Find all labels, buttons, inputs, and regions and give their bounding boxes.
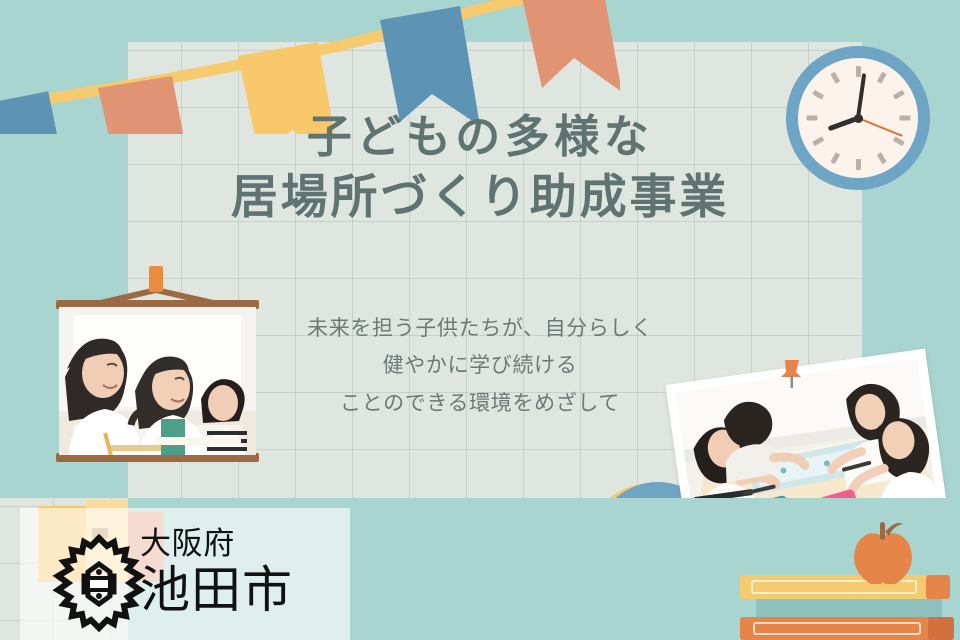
- clock-second-hand: [858, 117, 903, 137]
- clock-minute-hand: [856, 73, 866, 118]
- clock-face: [798, 58, 918, 178]
- classroom-photo-hanging: [56, 266, 259, 462]
- wall-clock: [786, 46, 930, 190]
- logo-city: 池田市: [140, 563, 350, 617]
- logo-prefecture: 大阪府: [140, 528, 350, 561]
- photo-tape-clip: [149, 266, 163, 292]
- poster-canvas: 子どもの多様な 居場所づくり助成事業 未来を担う子供たちが、自分らしく 健やかに…: [0, 0, 960, 640]
- ikeda-city-emblem-icon: [50, 534, 148, 632]
- pushpin-icon: [777, 356, 807, 390]
- photo-left-image: [59, 307, 256, 455]
- apple-top: [852, 518, 914, 584]
- bunting-flags: [0, 0, 620, 134]
- logo-text: 大阪府 池田市: [140, 528, 350, 617]
- book-stack-right: [740, 575, 960, 640]
- clock-center-pin: [854, 114, 863, 123]
